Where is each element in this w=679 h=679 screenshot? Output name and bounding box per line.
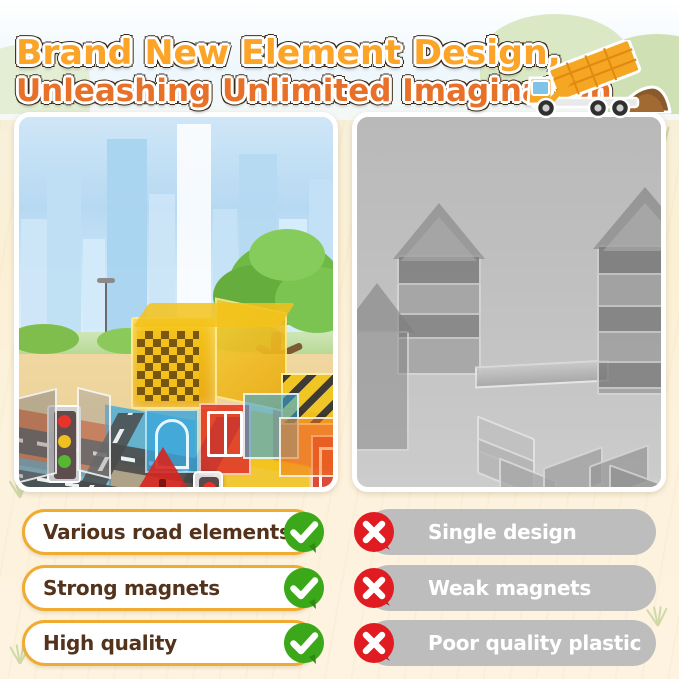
pro-bar-1[interactable]: Strong magnets [22, 565, 317, 611]
gray-magnetic-tile-photo [352, 112, 666, 492]
cross-icon [352, 566, 396, 610]
headline-line-2: Unleashing Unlimited Imagination [16, 76, 556, 107]
pro-label-0: Various road elements [43, 520, 291, 544]
infographic-root: Brand New Element Design, Unleashing Unl… [0, 0, 679, 679]
check-icon [282, 566, 326, 610]
headline-line-1: Brand New Element Design, [16, 36, 567, 70]
colorful-magnetic-tile-city-photo [14, 112, 338, 492]
dump-truck-illustration [512, 40, 672, 120]
pro-label-2: High quality [43, 631, 177, 655]
pro-bar-2[interactable]: High quality [22, 620, 317, 666]
street-lamp-icon [105, 279, 107, 339]
con-bar-0[interactable]: Single design [366, 509, 656, 555]
con-label-0: Single design [428, 520, 577, 544]
con-bar-2[interactable]: Poor quality plastic [366, 620, 656, 666]
con-label-2: Poor quality plastic [428, 631, 641, 655]
traffic-light-tile [193, 471, 223, 492]
cross-icon [352, 510, 396, 554]
check-icon [282, 621, 326, 665]
headline-block: Brand New Element Design, Unleashing Unl… [16, 36, 556, 107]
con-label-1: Weak magnets [428, 576, 591, 600]
cross-icon [352, 621, 396, 665]
pro-label-1: Strong magnets [43, 576, 220, 600]
pro-bar-0[interactable]: Various road elements [22, 509, 317, 555]
check-icon [282, 510, 326, 554]
comparison-list: Various road elements Single design Stro… [0, 500, 679, 679]
con-bar-1[interactable]: Weak magnets [366, 565, 656, 611]
